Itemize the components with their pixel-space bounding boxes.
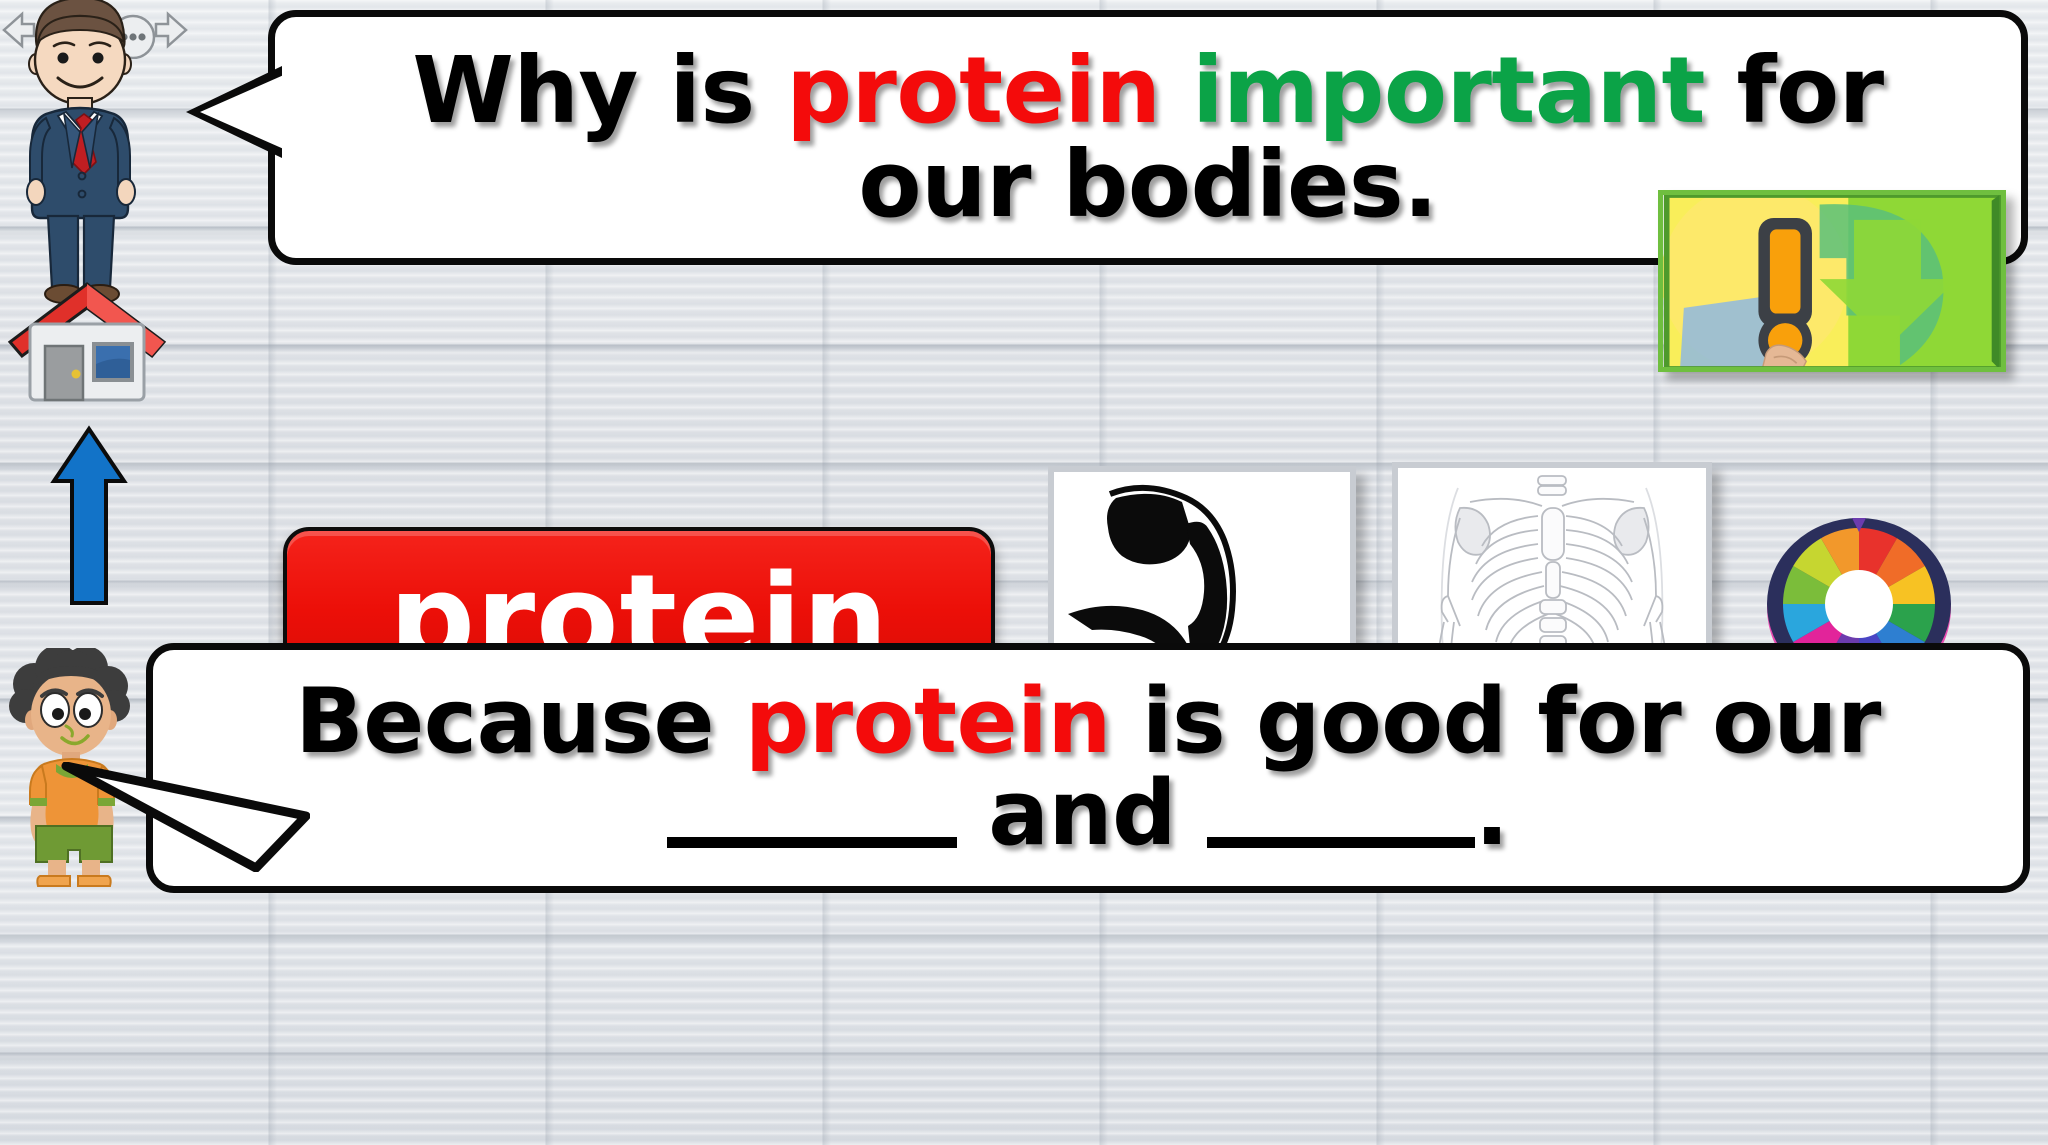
answer-line-1: Because protein is good for our <box>277 676 1899 768</box>
question-text-b: for <box>1705 37 1884 144</box>
answer-blank-1[interactable] <box>667 837 957 848</box>
exclamation-mark-tile[interactable] <box>1658 190 2006 372</box>
answer-conjunction: and <box>957 761 1206 866</box>
question-line-2: our bodies. <box>840 138 1455 232</box>
answer-bubble-tail <box>60 762 310 872</box>
slide-canvas: Why is protein important for our bodies. <box>0 0 2048 1145</box>
teacher-character <box>6 0 181 306</box>
answer-line-2: and . <box>649 768 1526 860</box>
question-bubble-tail-fill <box>200 74 286 150</box>
answer-text-b: is good for our <box>1111 669 1881 774</box>
answer-keyword-protein: protein <box>745 669 1111 774</box>
answer-blank-2[interactable] <box>1207 837 1475 848</box>
home-icon[interactable] <box>6 278 168 423</box>
up-arrow-icon[interactable] <box>50 425 128 607</box>
answer-text-a: Because <box>295 669 745 774</box>
question-keyword-protein: protein <box>786 37 1160 144</box>
question-text-space <box>1161 37 1193 144</box>
question-text-a: Why is <box>412 37 786 144</box>
answer-period: . <box>1475 761 1509 866</box>
student-answer-bubble: Because protein is good for our and . <box>146 643 2030 893</box>
question-keyword-important: important <box>1192 37 1705 144</box>
question-line-1: Why is protein important for <box>394 44 1901 138</box>
